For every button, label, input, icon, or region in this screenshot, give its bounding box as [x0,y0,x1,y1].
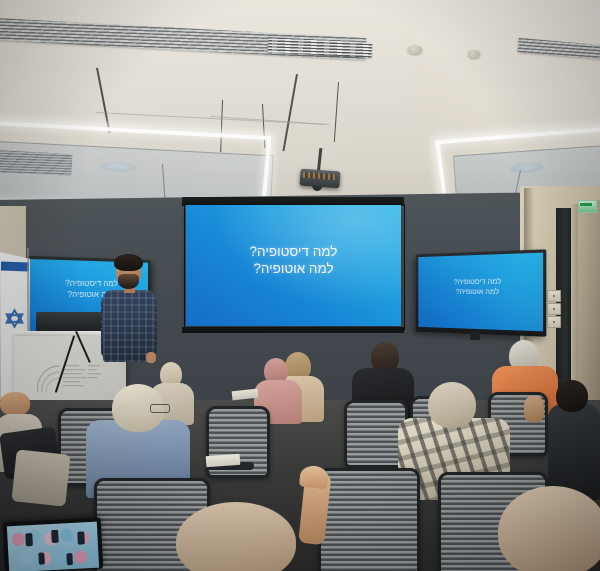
audience-head [556,380,588,412]
presentation-room-photo: למה דיסטופיה? למה אוטופיה? למה דיסטופיה?… [0,0,600,571]
audience-jacket [11,449,70,506]
podium-logo [32,352,104,400]
monitor-right-line-2: למה אוטופיה? [418,287,543,298]
slide-text: למה דיסטופיה? למה אוטופיה? [186,243,401,289]
presenter-hand [146,352,156,363]
smoke-detector-icon [408,45,422,54]
projection-screen-bottom-bar [182,327,404,333]
chair-back[interactable] [318,468,420,571]
smoke-detector-icon [468,50,480,58]
light-switch[interactable] [547,316,561,328]
wall-monitor-right-text: למה דיסטופיה? למה אוטופיה? [418,276,543,306]
audience-hand [0,392,30,416]
notebook[interactable] [206,454,241,467]
presenter-torso [103,290,155,362]
monitor-right-line-1: למה דיסטופיה? [418,276,543,287]
eyeglasses-icon [150,404,170,413]
slide-line-2: למה אוטופיה? [186,260,401,277]
audience-head [428,382,476,428]
audience-hand [524,396,544,422]
presenter-hair [114,254,143,271]
presenter-beard [118,274,139,289]
light-switch[interactable] [547,303,561,315]
exit-sign-icon [578,200,597,213]
foreground-head [498,486,600,571]
slide-line-1: למה דיסטופיה? [186,243,401,260]
light-switch[interactable] [547,290,561,302]
laptop-stickers [7,522,99,571]
wall-monitor-right-mount [470,332,480,340]
star-of-david-icon [4,308,25,329]
flag-stripe-top [1,262,29,272]
exit-sign-arrow-icon [580,203,592,206]
